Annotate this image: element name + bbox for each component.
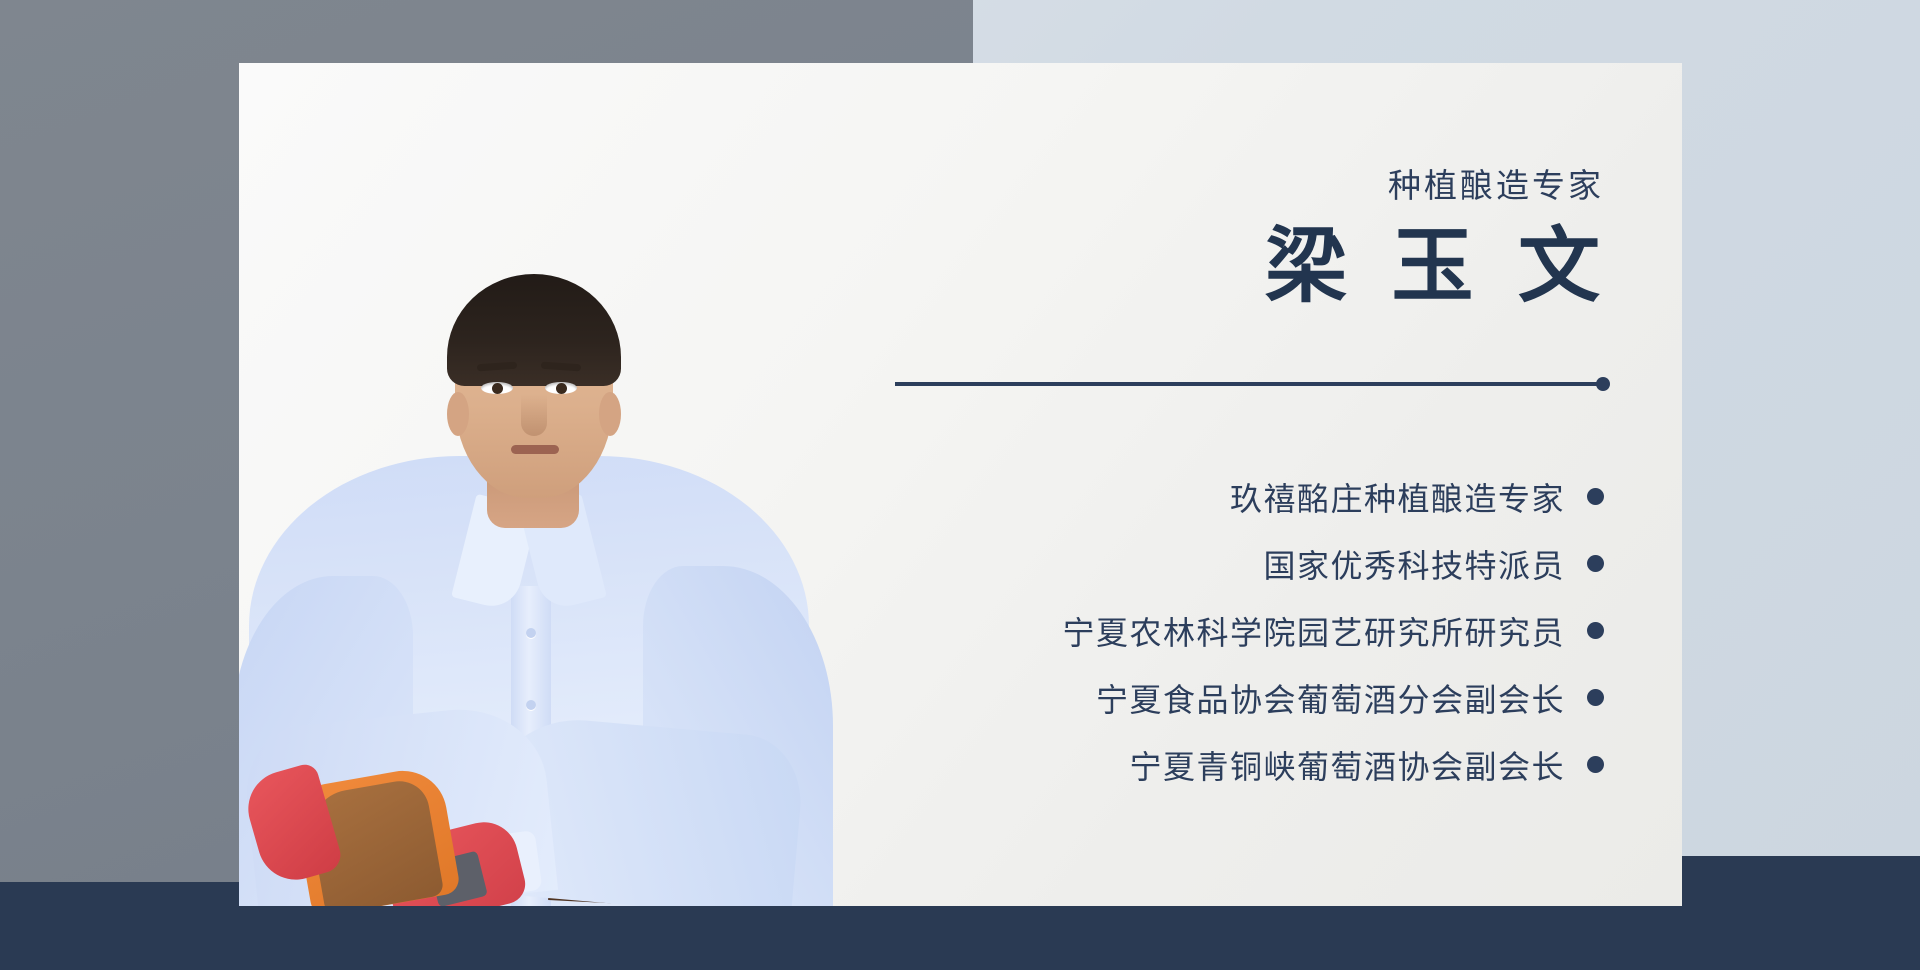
list-item: 宁夏青铜峡葡萄酒协会副会长 (884, 731, 1604, 798)
credentials-list: 玖禧酩庄种植酿造专家 国家优秀科技特派员 宁夏农林科学院园艺研究所研究员 宁夏食… (884, 463, 1604, 798)
bullet-dot-icon (1587, 756, 1604, 773)
bullet-dot-icon (1587, 555, 1604, 572)
portrait-ear-left (447, 392, 469, 436)
portrait-shirt-button (526, 628, 536, 638)
horizontal-divider (895, 382, 1602, 386)
credential-text: 宁夏食品协会葡萄酒分会副会长 (1096, 675, 1565, 721)
portrait-ear-right (599, 392, 621, 436)
portrait-pupil-left (492, 383, 503, 394)
list-item: 宁夏食品协会葡萄酒分会副会长 (884, 664, 1604, 731)
portrait-eye-left (481, 382, 513, 394)
portrait-mouth (511, 445, 559, 454)
profile-card: 种植酿造专家 梁 玉 文 玖禧酩庄种植酿造专家 国家优秀科技特派员 宁夏农林科学… (239, 63, 1682, 906)
credential-text: 宁夏青铜峡葡萄酒协会副会长 (1129, 742, 1565, 788)
portrait-hair (447, 274, 621, 386)
portrait-figure (239, 63, 839, 906)
list-item: 玖禧酩庄种植酿造专家 (884, 463, 1604, 530)
list-item: 国家优秀科技特派员 (884, 530, 1604, 597)
bullet-dot-icon (1587, 622, 1604, 639)
portrait-nose (521, 394, 547, 436)
credential-text: 玖禧酩庄种植酿造专家 (1230, 474, 1565, 520)
portrait-eye-right (545, 382, 577, 394)
portrait-photo (239, 63, 839, 906)
bullet-dot-icon (1587, 689, 1604, 706)
profile-info-column: 种植酿造专家 梁 玉 文 玖禧酩庄种植酿造专家 国家优秀科技特派员 宁夏农林科学… (839, 63, 1682, 906)
expert-profile-banner: 种植酿造专家 梁 玉 文 玖禧酩庄种植酿造专家 国家优秀科技特派员 宁夏农林科学… (0, 0, 1920, 970)
credential-text: 宁夏农林科学院园艺研究所研究员 (1062, 608, 1565, 654)
bullet-dot-icon (1587, 488, 1604, 505)
expert-name: 梁 玉 文 (1265, 199, 1612, 318)
divider-end-dot-icon (1596, 377, 1610, 391)
credential-text: 国家优秀科技特派员 (1263, 541, 1565, 587)
list-item: 宁夏农林科学院园艺研究所研究员 (884, 597, 1604, 664)
portrait-shirt-button (526, 700, 536, 710)
portrait-pupil-right (556, 383, 567, 394)
